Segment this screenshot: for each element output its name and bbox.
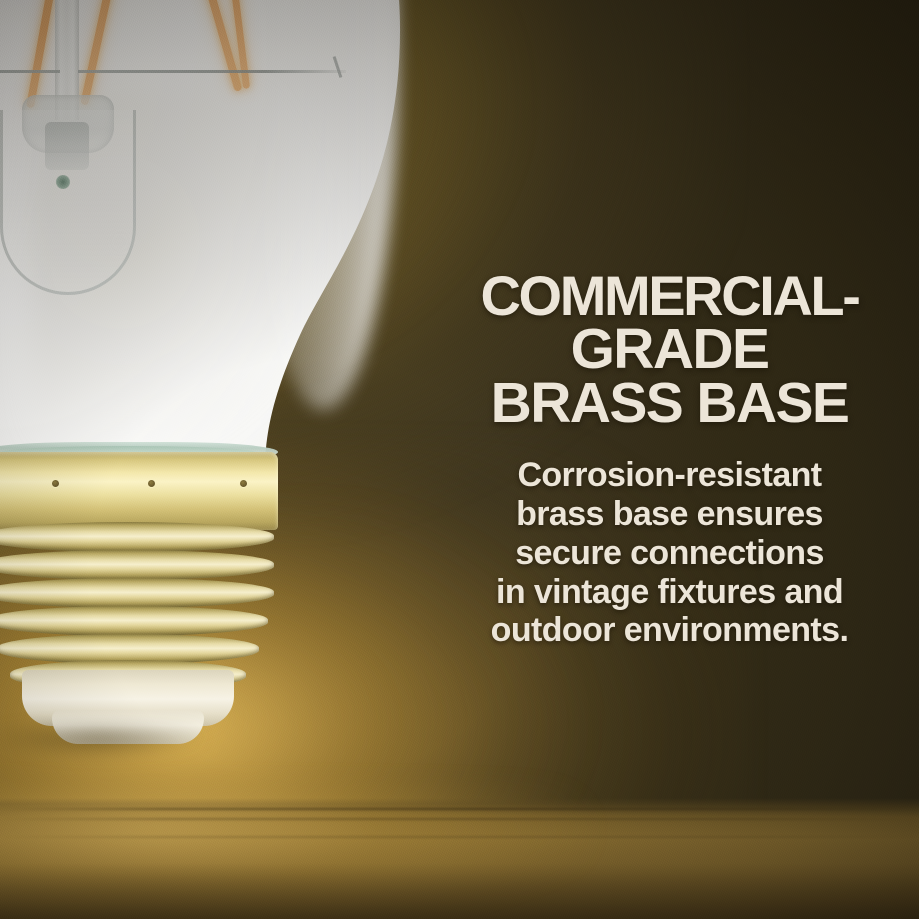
marketing-copy-panel: COMMERCIAL- GRADE BRASS BASE Corrosion-r… [420, 0, 919, 919]
body-copy: Corrosion-resistant brass base ensures s… [430, 456, 909, 650]
body-line-1: Corrosion-resistant [430, 456, 909, 495]
headline-line-3: BRASS BASE [430, 376, 909, 430]
headline: COMMERCIAL- GRADE BRASS BASE [430, 269, 909, 430]
body-line-3: secure connections [430, 534, 909, 573]
product-feature-banner: COMMERCIAL- GRADE BRASS BASE Corrosion-r… [0, 0, 919, 919]
body-line-5: outdoor environments. [430, 611, 909, 650]
body-line-2: brass base ensures [430, 495, 909, 534]
body-line-4: in vintage fixtures and [430, 573, 909, 612]
headline-line-2: GRADE [430, 322, 909, 376]
headline-line-1: COMMERCIAL- [430, 269, 909, 322]
